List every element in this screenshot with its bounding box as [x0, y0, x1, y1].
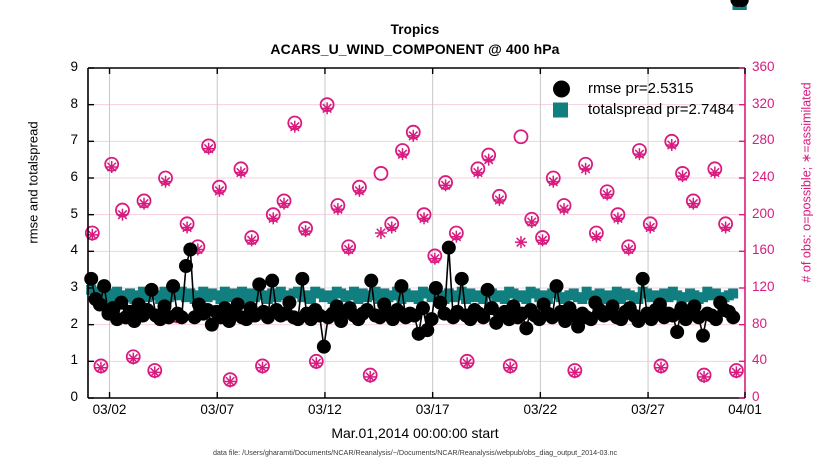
y-tick-right-160: 160 [752, 242, 812, 257]
asterisk-marker [138, 198, 150, 210]
asterisk-marker [547, 176, 559, 188]
rmse-marker [416, 301, 430, 315]
rmse-marker [265, 274, 279, 288]
asterisk-marker [515, 236, 527, 248]
asterisk-marker [450, 231, 462, 243]
x-tick-03-12: 03/12 [285, 402, 365, 417]
y-tick-right-280: 280 [752, 132, 812, 147]
rmse-marker [442, 241, 456, 255]
x-tick-03-17: 03/17 [393, 402, 473, 417]
legend-item-totalspread[interactable]: totalspread pr=2.7484 [540, 99, 734, 120]
x-tick-03-02: 03/02 [70, 402, 150, 417]
totalspread-marker [728, 289, 738, 299]
rmse-marker [481, 283, 495, 297]
asterisk-marker [429, 253, 441, 265]
y-tick-right-200: 200 [752, 206, 812, 221]
asterisk-marker [396, 148, 408, 160]
asterisk-marker [558, 203, 570, 215]
asterisk-marker [321, 102, 333, 114]
asterisk-marker [483, 154, 495, 166]
rmse-marker [550, 279, 564, 293]
asterisk-marker [95, 362, 107, 374]
asterisk-marker [698, 371, 710, 383]
legend-item-rmse[interactable]: rmse pr=2.5315 [540, 78, 734, 99]
legend-label-rmse: rmse pr=2.5315 [588, 80, 693, 97]
figure-canvas: Tropics ACARS_U_WIND_COMPONENT @ 400 hPa… [0, 0, 830, 470]
asterisk-marker [472, 167, 484, 179]
asterisk-marker [278, 198, 290, 210]
y-tick-left-4: 4 [18, 242, 78, 257]
rmse-marker [166, 279, 180, 293]
asterisk-marker [246, 234, 258, 246]
rmse-marker [97, 279, 111, 293]
asterisk-marker [224, 376, 236, 388]
rmse-marker [394, 279, 408, 293]
rmse-marker [231, 298, 245, 312]
asterisk-marker [569, 366, 581, 378]
y-tick-left-1: 1 [18, 352, 78, 367]
y-tick-left-8: 8 [18, 96, 78, 111]
x-tick-03-07: 03/07 [177, 402, 257, 417]
asterisk-marker [709, 167, 721, 179]
rmse-marker [84, 272, 98, 286]
asterisk-marker [612, 212, 624, 224]
rmse-marker [183, 243, 197, 257]
asterisk-marker [580, 163, 592, 175]
y-tick-right-360: 360 [752, 59, 812, 74]
asterisk-marker [461, 357, 473, 369]
asterisk-marker [493, 194, 505, 206]
asterisk-marker [300, 225, 312, 237]
y-tick-right-320: 320 [752, 96, 812, 111]
y-tick-left-6: 6 [18, 169, 78, 184]
asterisk-marker [353, 185, 365, 197]
asterisk-marker [418, 212, 430, 224]
chart-legend: rmse pr=2.5315 totalspread pr=2.7484 [540, 78, 734, 120]
rmse-marker [425, 312, 439, 326]
asterisk-marker [332, 203, 344, 215]
asterisk-marker [213, 185, 225, 197]
asterisk-marker [687, 198, 699, 210]
legend-label-totalspread: totalspread pr=2.7484 [588, 101, 734, 118]
asterisk-marker [504, 362, 516, 374]
asterisk-marker [407, 130, 419, 142]
rmse-marker [175, 310, 189, 324]
y-tick-left-9: 9 [18, 59, 78, 74]
asterisk-marker [720, 222, 732, 234]
x-tick-04-01: 04/01 [705, 402, 785, 417]
rmse-marker [145, 283, 159, 297]
asterisk-marker [364, 371, 376, 383]
asterisk-marker [590, 231, 602, 243]
asterisk-marker [343, 244, 355, 256]
asterisk-marker [267, 212, 279, 224]
asterisk-marker [601, 189, 613, 201]
asterisk-marker [181, 222, 193, 234]
rmse-marker [696, 329, 710, 343]
plot-area [0, 0, 830, 470]
asterisk-marker [730, 366, 742, 378]
asterisk-marker [106, 161, 118, 173]
filled-circle-icon [553, 80, 570, 97]
asterisk-marker [256, 362, 268, 374]
rmse-marker [429, 281, 443, 295]
y-tick-right-240: 240 [752, 169, 812, 184]
asterisk-marker [160, 176, 172, 188]
asterisk-marker [289, 121, 301, 133]
asterisk-marker [623, 244, 635, 256]
chart-subtitle-region: Tropics [0, 22, 830, 37]
asterisk-marker [440, 179, 452, 191]
filled-square-icon [553, 102, 568, 117]
rmse-marker [636, 272, 650, 286]
asterisk-marker [666, 139, 678, 151]
asterisk-marker [149, 366, 161, 378]
asterisk-marker [310, 357, 322, 369]
y-tick-left-7: 7 [18, 132, 78, 147]
rmse-marker [317, 340, 331, 354]
x-tick-03-27: 03/27 [608, 402, 688, 417]
y-tick-right-80: 80 [752, 316, 812, 331]
asterisk-marker [386, 222, 398, 234]
legend-line-rmse [540, 87, 584, 90]
asterisk-marker [116, 209, 128, 221]
chart-title: ACARS_U_WIND_COMPONENT @ 400 hPa [0, 41, 830, 57]
asterisk-marker [235, 167, 247, 179]
rmse-marker [282, 296, 296, 310]
asterisk-marker [677, 170, 689, 182]
asterisk-marker [633, 148, 645, 160]
y-tick-right-40: 40 [752, 352, 812, 367]
y-tick-left-2: 2 [18, 316, 78, 331]
asterisk-marker [127, 353, 139, 365]
rmse-marker [519, 321, 533, 335]
asterisk-marker [644, 222, 656, 234]
rmse-marker [364, 274, 378, 288]
legend-line-totalspread [540, 108, 584, 111]
asterisk-marker [537, 234, 549, 246]
rmse-marker [295, 272, 309, 286]
data-file-footer: data file: /Users/gharamti/Documents/NCA… [0, 448, 830, 457]
x-tick-03-22: 03/22 [500, 402, 580, 417]
asterisk-marker [526, 216, 538, 228]
rmse-marker [455, 272, 469, 286]
y-tick-right-120: 120 [752, 279, 812, 294]
asterisk-marker [375, 227, 387, 239]
asterisk-marker [203, 143, 215, 155]
rmse-marker [670, 325, 684, 339]
y-tick-left-5: 5 [18, 206, 78, 221]
asterisk-marker [655, 362, 667, 374]
y-tick-left-3: 3 [18, 279, 78, 294]
rmse-marker [726, 310, 740, 324]
x-axis-label: Mar.01,2014 00:00:00 start [0, 425, 830, 441]
rmse-marker [179, 259, 193, 273]
rmse-marker [252, 277, 266, 291]
